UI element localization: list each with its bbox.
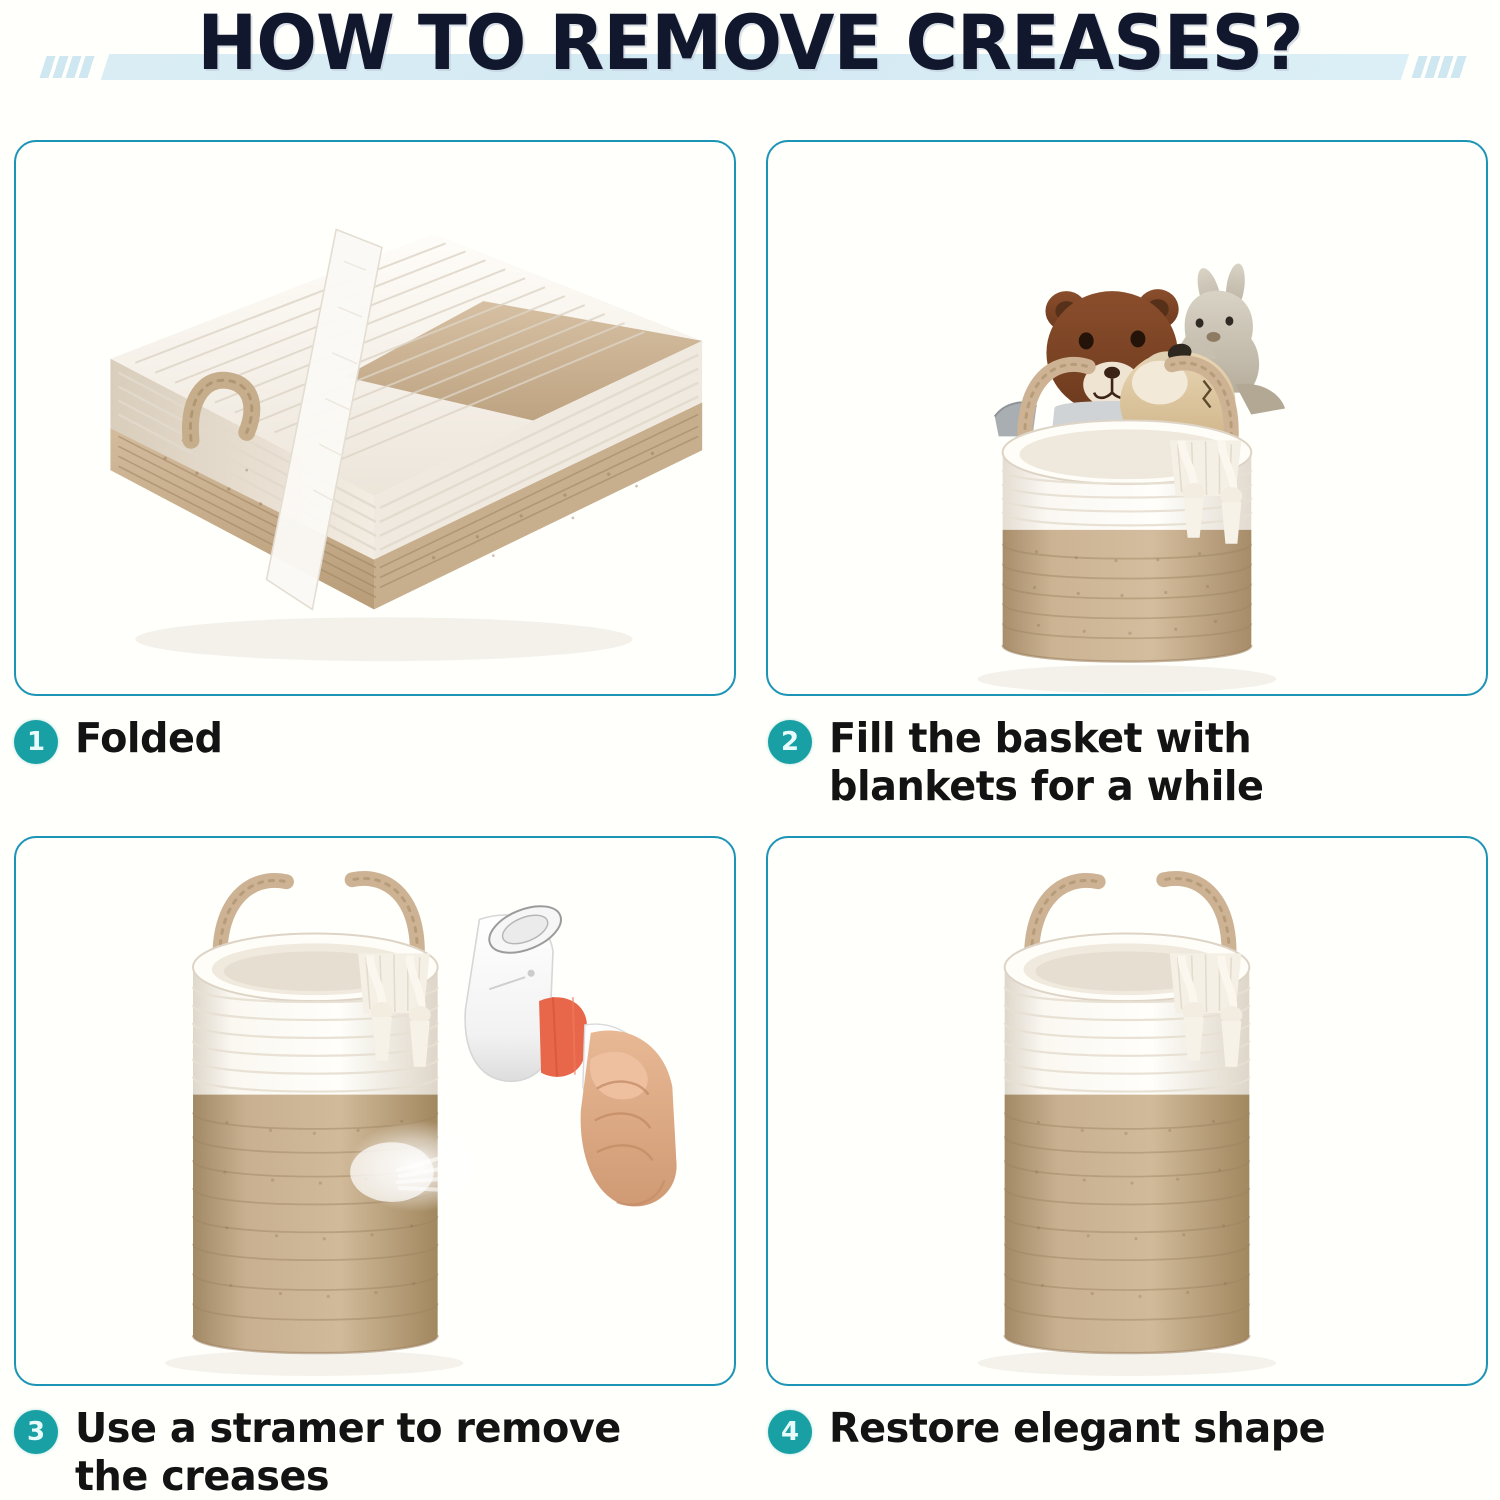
step-2-caption: 2 Fill the basket with blankets for a wh… — [768, 714, 1468, 810]
hand-holding-steamer — [581, 1031, 677, 1207]
folded-basket-illustration — [16, 142, 734, 695]
step-1-caption: 1 Folded — [14, 714, 714, 764]
header: HOW TO REMOVE CREASES? — [0, 0, 1500, 120]
step-4-caption: 4 Restore elegant shape — [768, 1404, 1468, 1454]
page-title: HOW TO REMOVE CREASES? — [45, 0, 1455, 90]
step-3-image-panel — [14, 836, 736, 1386]
step-4-image-panel — [766, 836, 1488, 1386]
step-1-label: Folded — [75, 714, 223, 762]
steamer-accent-band — [539, 997, 587, 1077]
step-2-label: Fill the basket with blankets for a whil… — [829, 714, 1449, 810]
steaming-basket-illustration — [16, 838, 734, 1385]
steam-burst — [348, 1120, 487, 1211]
garment-steamer — [465, 897, 676, 1207]
step-4-badge: 4 — [768, 1410, 812, 1454]
step-2-badge: 2 — [768, 720, 812, 764]
step-4-label: Restore elegant shape — [829, 1404, 1325, 1452]
step-3-badge: 3 — [14, 1410, 58, 1454]
step-3-label: Use a stramer to remove the creases — [75, 1404, 695, 1500]
basket — [1005, 878, 1250, 1353]
basket — [193, 878, 438, 1353]
step-3-caption: 3 Use a stramer to remove the creases — [14, 1404, 714, 1500]
basket-with-toys-illustration: YORK — [768, 142, 1486, 695]
step-2-image-panel: YORK — [766, 140, 1488, 696]
step-1-badge: 1 — [14, 720, 58, 764]
step-1-image-panel — [14, 140, 736, 696]
restored-basket-illustration — [768, 838, 1486, 1385]
